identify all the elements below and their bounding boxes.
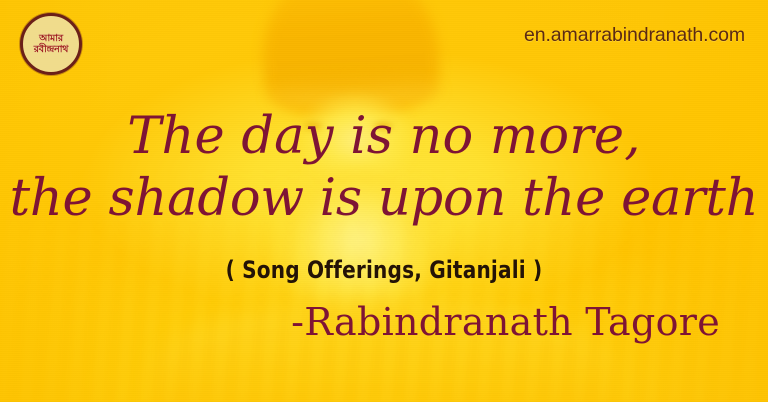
- site-logo[interactable]: আমার রবীন্দ্রনাথ: [20, 13, 82, 75]
- quote-source: ( Song Offerings, Gitanjali ): [27, 256, 741, 284]
- quote-text: The day is no more, the shadow is upon t…: [0, 106, 768, 230]
- quote-line-1: The day is no more,: [0, 106, 768, 168]
- site-logo-label: আমার রবীন্দ্রনাথ: [23, 33, 79, 55]
- quote-author: -Rabindranath Tagore: [291, 299, 720, 345]
- quote-card: আমার রবীন্দ্রনাথ en.amarrabindranath.com…: [0, 0, 768, 402]
- quote-line-2: the shadow is upon the earth: [0, 168, 768, 230]
- site-url[interactable]: en.amarrabindranath.com: [524, 24, 745, 47]
